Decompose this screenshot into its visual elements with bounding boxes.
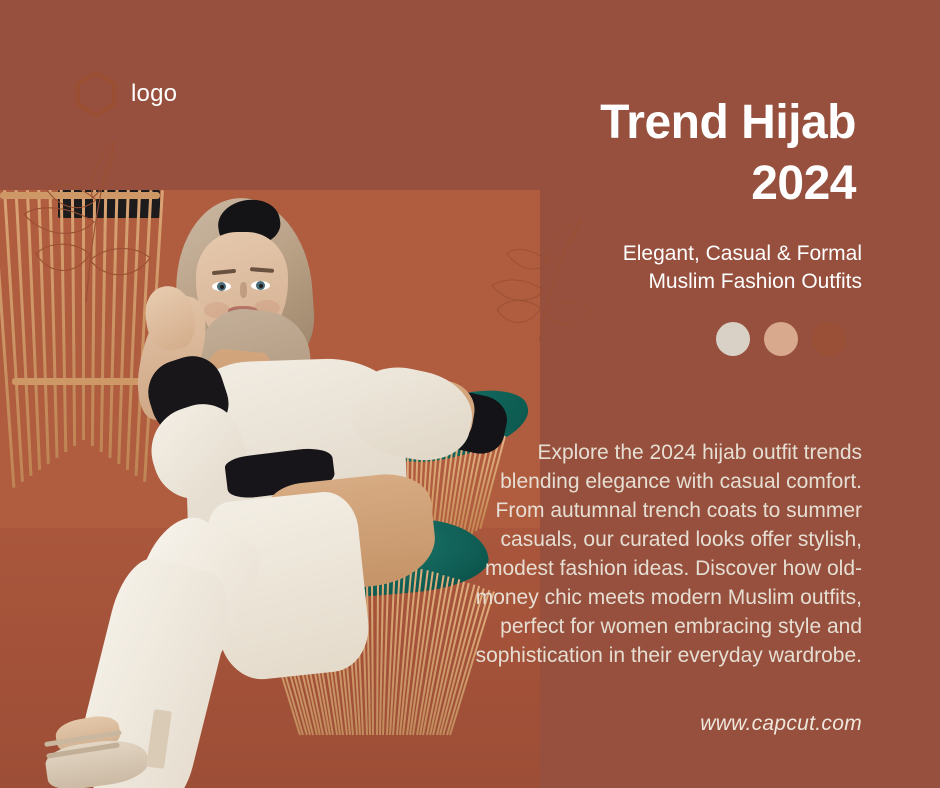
- brand-logo[interactable]: logo: [74, 70, 177, 118]
- color-swatch-group: [716, 322, 846, 356]
- poster-canvas: logo Trend Hijab 2024 Elegant, Casual & …: [0, 0, 940, 788]
- headline-line-2: 2024: [336, 153, 856, 214]
- body-paragraph: Explore the 2024 hijab outfit trends ble…: [462, 439, 862, 671]
- logo-text: logo: [131, 80, 177, 108]
- photo-nose: [240, 282, 247, 298]
- headline-line-1: Trend Hijab: [600, 96, 856, 149]
- subtitle: Elegant, Casual & Formal Muslim Fashion …: [382, 240, 862, 295]
- botanical-leaf-left: [18, 136, 178, 306]
- color-swatch-tan[interactable]: [764, 322, 798, 356]
- color-swatch-rust[interactable]: [812, 322, 846, 356]
- subtitle-line-2: Muslim Fashion Outfits: [382, 268, 862, 296]
- subtitle-line-1: Elegant, Casual & Formal: [623, 242, 862, 265]
- color-swatch-cream[interactable]: [716, 322, 750, 356]
- hexagon-outline-icon: [74, 70, 118, 118]
- page-title: Trend Hijab 2024: [336, 92, 856, 215]
- website-url[interactable]: www.capcut.com: [700, 712, 862, 736]
